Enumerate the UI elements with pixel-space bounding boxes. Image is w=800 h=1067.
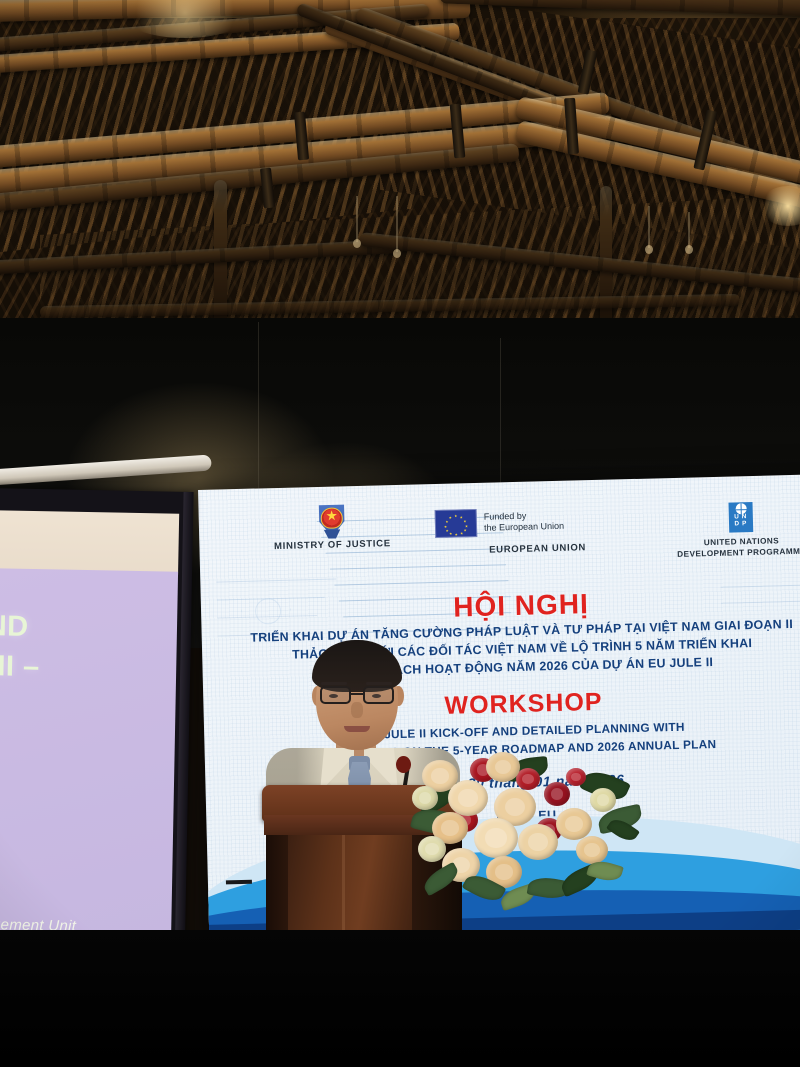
eu-funded-block: Funded by the European Union [435, 505, 626, 538]
cream-rose-3 [448, 780, 488, 816]
cream-rose-2 [486, 752, 520, 782]
slide-title-line-1: ICE AND [0, 605, 178, 650]
pendant-wire-4 [688, 212, 690, 248]
green-white-bloom-3 [590, 788, 616, 812]
screen-blank-strip [0, 510, 179, 576]
european-union-flag-icon [435, 509, 478, 538]
cream-rose-7 [518, 824, 558, 860]
red-flower-3 [544, 782, 570, 806]
slide-title: ICE AND HASE II – [0, 605, 178, 690]
roof-rafters [0, 0, 800, 330]
speaker-brow-left [321, 682, 347, 685]
banner-tick-mark [226, 880, 252, 885]
ministry-of-justice-emblem-icon [316, 500, 347, 537]
bamboo-ceiling [0, 0, 800, 330]
conference-photo-scene: MINISTRY OF JUSTICE [0, 0, 800, 1067]
speaker-brow-right [366, 682, 392, 685]
speaker-mouth [344, 726, 370, 732]
logo-caption-moj: MINISTRY OF JUSTICE [257, 538, 407, 553]
undp-logo-icon: U ND P [728, 502, 753, 533]
speaker-nose [351, 702, 363, 718]
logo-undp: U ND P UNITED NATIONS DEVELOPMENT PROGRA… [651, 500, 800, 561]
logo-european-union: Funded by the European Union EUROPEAN UN… [435, 505, 626, 557]
pendant-wire-1 [356, 196, 358, 242]
cream-rose-6 [474, 818, 518, 858]
logo-ministry-of-justice: MINISTRY OF JUSTICE [256, 499, 407, 553]
microphone-head-icon [396, 756, 411, 773]
red-flower-2 [516, 768, 540, 790]
slide-title-line-2: HASE II – [0, 645, 178, 690]
eu-funded-line-2: the European Union [484, 521, 564, 534]
floral-arrangement [412, 752, 642, 932]
undp-letters: U ND P [734, 514, 748, 528]
banner-logo-row: MINISTRY OF JUSTICE [198, 482, 800, 594]
cream-rose-8 [556, 808, 592, 840]
green-white-bloom-2 [418, 836, 446, 862]
cream-rose-9 [576, 836, 608, 864]
eu-funded-text: Funded by the European Union [484, 510, 565, 534]
pendant-wire-3 [648, 206, 650, 248]
red-flower-6 [566, 768, 586, 786]
green-white-bloom-1 [412, 786, 438, 810]
logo-caption-eu: EUROPEAN UNION [449, 541, 625, 556]
un-globe-icon [735, 503, 746, 514]
stage-floor [0, 930, 800, 1067]
pendant-wire-2 [396, 196, 398, 252]
